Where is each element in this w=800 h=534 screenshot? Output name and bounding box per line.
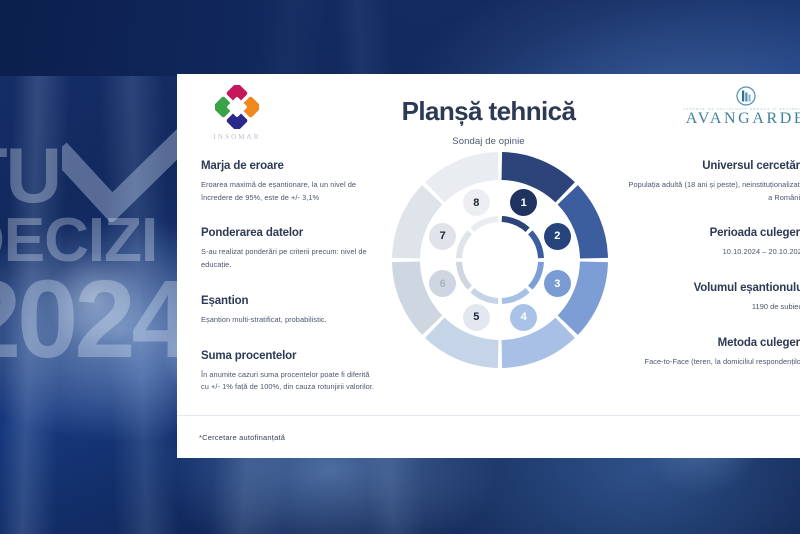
info-block-body: Eșantion multi-stratificat, probabilisti… (201, 314, 379, 327)
donut-rings (390, 150, 610, 370)
donut-bubble-4[interactable]: 4 (510, 304, 537, 331)
info-block-heading: Universul cercetării (628, 160, 800, 172)
donut-bubble-5[interactable]: 5 (463, 304, 490, 331)
info-block-body: Face-to-Face (teren, la domiciliul respo… (628, 356, 800, 369)
donut-inner-segment-2 (528, 230, 544, 258)
info-block-heading: Suma procentelor (201, 350, 379, 362)
info-block-body: Eroarea maximă de eșantionare, la un niv… (201, 179, 379, 204)
donut-inner-segment-3 (528, 262, 544, 290)
info-block-body: În anumite cazuri suma procentelor poate… (201, 369, 379, 394)
page-title-block: Planșă tehnică Sondaj de opinie (177, 96, 800, 147)
info-block-body: 1190 de subiecți (628, 301, 800, 314)
info-block-volumul-esantionului: Volumul eșantionului 1190 de subiecți (628, 282, 800, 314)
screenshot-root: TU DECIZI 2024 INSOMAR (0, 0, 800, 534)
donut-inner-ring (456, 216, 544, 304)
info-block-body: Populația adultă (18 ani și peste), nein… (628, 179, 800, 204)
info-block-ponderarea-datelor: Ponderarea datelor S-au realizat ponderă… (201, 227, 379, 271)
info-block-perioada-culegerii: Perioada culegerii 10.10.2024 – 20.10.20… (628, 227, 800, 259)
info-block-suma-procentelor: Suma procentelor În anumite cazuri suma … (201, 350, 379, 394)
background-dark-corner (0, 0, 420, 76)
donut-inner-segment-7 (456, 230, 472, 258)
footer-note: *Cercetare autofinanțată (199, 433, 285, 442)
donut-bubble-7[interactable]: 7 (429, 223, 456, 250)
info-block-heading: Volumul eșantionului (628, 282, 800, 294)
info-block-body: S-au realizat ponderări pe criterii prec… (201, 246, 379, 271)
donut-bubble-8[interactable]: 8 (463, 189, 490, 216)
info-block-heading: Ponderarea datelor (201, 227, 379, 239)
card-footer: *Cercetare autofinanțată (177, 415, 800, 458)
donut-inner-segment-6 (456, 262, 472, 290)
donut-inner-segment-5 (470, 288, 498, 304)
card-body: INSOMAR CENTRUL DE SOCIOLOGIE URBANA SI … (177, 74, 800, 414)
info-block-esantion: Eșantion Eșantion multi-stratificat, pro… (201, 295, 379, 327)
donut-outer-ring (392, 152, 608, 368)
info-block-marja-de-eroare: Marja de eroare Eroarea maximă de eșanti… (201, 160, 379, 204)
info-block-heading: Marja de eroare (201, 160, 379, 172)
donut-bubble-2[interactable]: 2 (544, 223, 571, 250)
info-block-heading: Eșantion (201, 295, 379, 307)
info-block-heading: Perioada culegerii (628, 227, 800, 239)
info-block-body: 10.10.2024 – 20.10.2024 (628, 246, 800, 259)
donut-diagram: 12345678 (390, 150, 610, 370)
page-title: Planșă tehnică (177, 96, 800, 127)
infographic-card: INSOMAR CENTRUL DE SOCIOLOGIE URBANA SI … (177, 74, 800, 458)
donut-inner-segment-4 (502, 288, 530, 304)
info-block-heading: Metoda culegerii (628, 337, 800, 349)
donut-bubble-3[interactable]: 3 (544, 270, 571, 297)
page-subtitle: Sondaj de opinie (177, 136, 800, 147)
info-block-universul-cercetarii: Universul cercetării Populația adultă (1… (628, 160, 800, 204)
right-info-column: Universul cercetării Populația adultă (1… (628, 160, 800, 369)
left-info-column: Marja de eroare Eroarea maximă de eșanti… (201, 160, 379, 394)
info-block-metoda-culegerii: Metoda culegerii Face-to-Face (teren, la… (628, 337, 800, 369)
donut-inner-segment-8 (470, 216, 498, 232)
donut-inner-segment-1 (502, 216, 530, 232)
